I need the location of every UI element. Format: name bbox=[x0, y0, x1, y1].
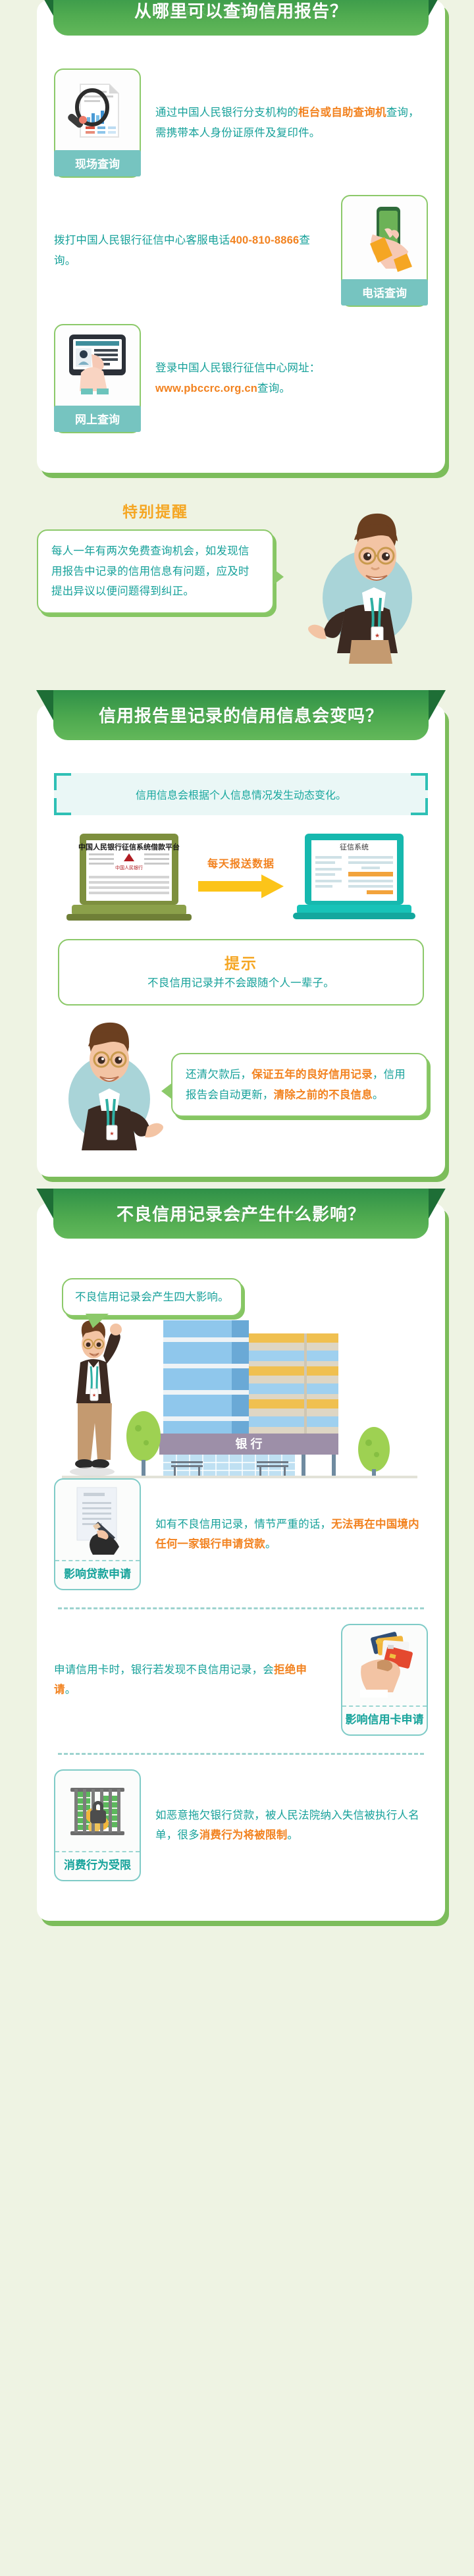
onsite-text-a: 通过中国人民银行分支机构的 bbox=[155, 107, 298, 119]
section3-card: 国家农担联盟 NACGA 信用报告里记录的信用信息会变吗？ 信用信息会根据个人信… bbox=[37, 705, 445, 1177]
section1-banner: 国家农担联盟 NACGA 从哪里可以查询信用报告？ bbox=[53, 0, 429, 36]
tablet-hand-icon bbox=[59, 332, 136, 400]
tile-phone: 电话查询 bbox=[341, 195, 428, 307]
tile-caption: 电话查询 bbox=[341, 279, 428, 306]
reminder-title: 特别提醒 bbox=[37, 499, 274, 522]
section4-bubble: 不良信用记录会产生四大影响。 bbox=[62, 1278, 242, 1317]
i1-a: 申请信用卡时，银行若发现不良信用记录，会 bbox=[54, 1664, 274, 1676]
online-text: 登录中国人民银行征信中心网址：www.pbccrc.org.cn查询。 bbox=[141, 358, 428, 398]
right-screen-title: 征信系统 bbox=[340, 843, 369, 851]
section4-title: 不良信用记录会产生什么影响？ bbox=[73, 1203, 409, 1225]
section3-bubble-text: 还清欠款后，保证五年的良好信用记录，信用报告会自动更新，清除之前的不良信息。 bbox=[186, 1065, 413, 1105]
tile-caption: 消费行为受限 bbox=[55, 1851, 140, 1880]
tip-box: 提示 不良信用记录并不会跟随个人一辈子。 bbox=[58, 939, 424, 1006]
phone-text-a: 拨打中国人民银行征信中心客服电话 bbox=[54, 234, 230, 246]
phone-text: 拨打中国人民银行征信中心客服电话400-810-8866查询。 bbox=[54, 230, 341, 271]
bracket-text: 信用信息会根据个人信息情况发生动态变化。 bbox=[71, 786, 411, 802]
reminder-bubble: 每人一年有两次免费查询机会，如发现信用报告中记录的信用信息有问题，应及时提出异议… bbox=[37, 529, 274, 614]
bracket-corner-bl bbox=[54, 798, 71, 815]
bracket-corner-tr bbox=[411, 773, 428, 790]
tile-caption: 网上查询 bbox=[54, 406, 141, 432]
i2-hl: 消费行为将被限制 bbox=[199, 1829, 288, 1841]
phone-number: 400-810-8866 bbox=[230, 234, 299, 246]
impact-separator-1 bbox=[58, 1607, 424, 1609]
data-transfer-illustration: 中国人民银行征信系统借款平台 中国人民银行 bbox=[37, 815, 445, 930]
impact-loan: 影响贷款申请 如有不良信用记录，情节严重的话，无法再在中国境内任何一家银行申请贷… bbox=[37, 1478, 445, 1590]
section3-character-row: ★ 还清欠款后，保证五年的良好信用记录，信用报告会自动更新，清除之前的不良信息。 bbox=[37, 1006, 445, 1154]
online-text-b: 查询。 bbox=[257, 383, 290, 394]
query-method-phone: 电话查询 拨打中国人民银行征信中心客服电话400-810-8866查询。 bbox=[37, 195, 445, 307]
infographic-page: 国家农担联盟 NACGA 从哪里可以查询信用报告？ bbox=[0, 0, 474, 1960]
laptop-target-icon: 征信系统 bbox=[288, 827, 419, 926]
bracket-corner-br bbox=[411, 798, 428, 815]
bank-sign-text: 银 行 bbox=[235, 1437, 262, 1451]
query-method-onsite: 现场查询 通过中国人民银行分支机构的柜台或自助查询机查询，需携带本人身份证原件及… bbox=[37, 68, 445, 178]
tile-caption: 现场查询 bbox=[54, 150, 141, 176]
onsite-text: 通过中国人民银行分支机构的柜台或自助查询机查询，需携带本人身份证原件及复印件。 bbox=[141, 103, 428, 143]
section-where-to-query: 国家农担联盟 NACGA 从哪里可以查询信用报告？ bbox=[22, 0, 452, 473]
i0-a: 如有不良信用记录，情节严重的话， bbox=[155, 1518, 331, 1530]
tile-consumption: $ $ 消费行为受限 bbox=[54, 1769, 141, 1881]
tip-text: 不良信用记录并不会跟随个人一辈子。 bbox=[72, 973, 409, 994]
reminder-left: 特别提醒 每人一年有两次免费查询机会，如发现信用报告中记录的信用信息有问题，应及… bbox=[37, 499, 274, 614]
impact-consumption: $ $ 消费行为受限 bbox=[37, 1769, 445, 1881]
magnifier-report-icon bbox=[59, 76, 136, 145]
bank-scene: 不良信用记录会产生四大影响。 bbox=[37, 1272, 445, 1479]
i1-b: 。 bbox=[65, 1684, 76, 1696]
man-presenting-icon: ★ bbox=[294, 499, 432, 664]
tile-caption: 影响贷款申请 bbox=[55, 1560, 140, 1589]
tile-online: 网上查询 bbox=[54, 324, 141, 433]
tip-title: 提示 bbox=[72, 951, 409, 973]
tile-loan: 影响贷款申请 bbox=[54, 1478, 141, 1590]
section4-card: 国家农担联盟 NACGA 不良信用记录会产生什么影响？ 不良信用记录会产生四大影… bbox=[37, 1203, 445, 1921]
onsite-text-hl: 柜台或自助查询机 bbox=[298, 107, 386, 119]
left-screen-title: 中国人民银行征信系统借款平台 bbox=[78, 842, 180, 851]
svg-text:★: ★ bbox=[375, 632, 380, 639]
left-screen-logo: 中国人民银行 bbox=[115, 865, 143, 871]
transfer-arrow: 每天报送数据 bbox=[198, 855, 284, 898]
money-in-cage-icon: $ $ bbox=[55, 1771, 140, 1851]
impact-creditcard-text: 申请信用卡时，银行若发现不良信用记录，会拒绝申请。 bbox=[54, 1660, 341, 1700]
section3-banner: 国家农担联盟 NACGA 信用报告里记录的信用信息会变吗？ bbox=[53, 690, 429, 740]
credit-cards-hand-icon bbox=[342, 1625, 427, 1705]
bank-building-illustration: 银 行 bbox=[53, 1320, 428, 1478]
impact-separator-2 bbox=[58, 1753, 424, 1755]
svg-text:★: ★ bbox=[109, 1131, 114, 1137]
impact-loan-text: 如有不良信用记录，情节严重的话，无法再在中国境内任何一家银行申请贷款。 bbox=[141, 1515, 428, 1555]
section-will-info-change: 国家农担联盟 NACGA 信用报告里记录的信用信息会变吗？ 信用信息会根据个人信… bbox=[22, 705, 452, 1177]
section3-bubble: 还清欠款后，保证五年的良好信用记录，信用报告会自动更新，清除之前的不良信息。 bbox=[171, 1053, 428, 1117]
section4-bubble-text: 不良信用记录会产生四大影响。 bbox=[75, 1291, 229, 1303]
b3-hl1: 保证五年的良好信用记录 bbox=[251, 1069, 373, 1081]
b3-hl2: 清除之前的不良信息 bbox=[274, 1089, 373, 1101]
section4-banner: 国家农担联盟 NACGA 不良信用记录会产生什么影响？ bbox=[53, 1189, 429, 1239]
section-special-reminder: 特别提醒 每人一年有两次免费查询机会，如发现信用报告中记录的信用信息有问题，应及… bbox=[22, 499, 452, 677]
svg-text:★: ★ bbox=[92, 1393, 96, 1398]
section-consequences: 国家农担联盟 NACGA 不良信用记录会产生什么影响？ 不良信用记录会产生四大影… bbox=[22, 1203, 452, 1921]
arrow-right-icon bbox=[198, 874, 284, 898]
document-signing-icon bbox=[55, 1480, 140, 1560]
query-method-online: 网上查询 登录中国人民银行征信中心网址：www.pbccrc.org.cn查询。 bbox=[37, 324, 445, 433]
section1-card: 国家农担联盟 NACGA 从哪里可以查询信用报告？ bbox=[37, 0, 445, 473]
online-text-a: 登录中国人民银行征信中心网址： bbox=[155, 362, 321, 374]
online-url[interactable]: www.pbccrc.org.cn bbox=[155, 383, 257, 394]
dynamic-change-note: 信用信息会根据个人信息情况发生动态变化。 bbox=[54, 773, 428, 815]
tile-caption: 影响信用卡申请 bbox=[342, 1705, 427, 1734]
man-pointing-icon: ★ bbox=[70, 1320, 122, 1476]
b3-c: 。 bbox=[373, 1089, 384, 1101]
tile-creditcard: 影响信用卡申请 bbox=[341, 1624, 428, 1736]
b3-a: 还清欠款后， bbox=[186, 1069, 251, 1081]
reminder-text: 每人一年有两次免费查询机会，如发现信用报告中记录的信用信息有问题，应及时提出异议… bbox=[51, 541, 259, 602]
section3-title: 信用报告里记录的信用信息会变吗？ bbox=[73, 705, 409, 727]
arrow-label: 每天报送数据 bbox=[198, 855, 284, 871]
impact-creditcard: 影响信用卡申请 申请信用卡时，银行若发现不良信用记录，会拒绝申请。 bbox=[37, 1624, 445, 1736]
i2-b: 。 bbox=[287, 1829, 298, 1841]
phone-hand-icon bbox=[346, 203, 423, 274]
section1-title: 从哪里可以查询信用报告？ bbox=[73, 0, 409, 22]
bracket-corner-tl bbox=[54, 773, 71, 790]
man-presenting-icon: ★ bbox=[54, 1016, 165, 1154]
impact-consumption-text: 如恶意拖欠银行贷款，被人民法院纳入失信被执行人名单，很多消费行为将被限制。 bbox=[141, 1806, 428, 1846]
i0-b: 。 bbox=[265, 1538, 276, 1550]
laptop-source-icon: 中国人民银行征信系统借款平台 中国人民银行 bbox=[63, 827, 194, 926]
tile-onsite: 现场查询 bbox=[54, 68, 141, 178]
reminder-character: ★ bbox=[274, 499, 452, 664]
